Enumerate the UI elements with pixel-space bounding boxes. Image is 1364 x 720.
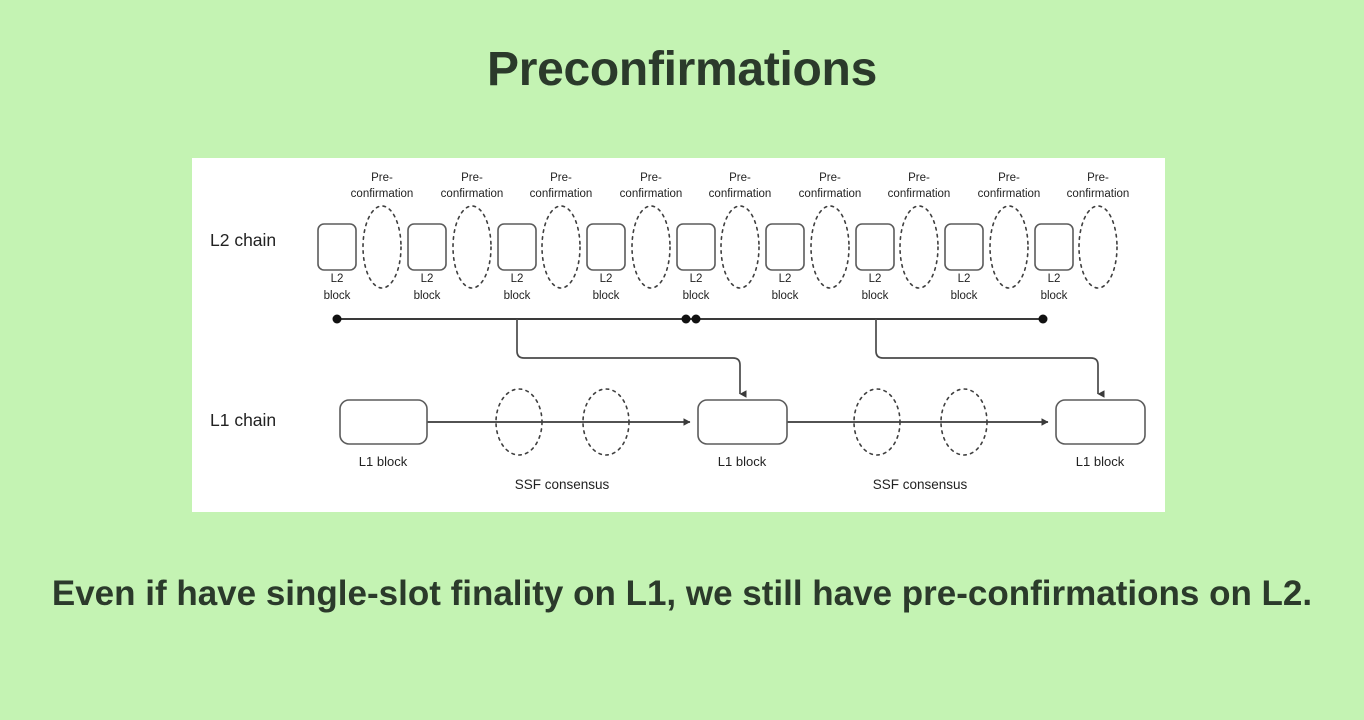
l2-block-label-line2: block [324, 290, 351, 302]
l2-timeline-dot [333, 315, 342, 324]
preconfirmation-item: Pre- confirmation [709, 172, 772, 288]
preconfirmation-item: Pre- confirmation [441, 172, 504, 288]
l2-timeline [333, 315, 1048, 324]
preconfirmation-label-line1: Pre- [461, 172, 483, 184]
l2-block-rect [945, 224, 983, 270]
page-title: Preconfirmations [0, 46, 1364, 94]
preconfirmation-label-line1: Pre- [908, 172, 930, 184]
preconfirmation-label-line2: confirmation [888, 188, 951, 200]
l2-block-label-line1: L2 [331, 273, 344, 285]
preconfirmation-item: Pre- confirmation [620, 172, 683, 288]
preconfirmation-label-line1: Pre- [729, 172, 751, 184]
preconfirmation-ellipse [453, 206, 491, 288]
preconfirmation-ellipse [542, 206, 580, 288]
l1-block-label: L1 block [359, 454, 408, 469]
l1-chain-label: L1 chain [210, 410, 276, 430]
l2-block-label-line1: L2 [421, 273, 434, 285]
preconfirmation-label-line2: confirmation [709, 188, 772, 200]
l2-block-item: L2 block [766, 224, 804, 302]
preconfirmation-label-line1: Pre- [371, 172, 393, 184]
preconfirmation-ellipse [990, 206, 1028, 288]
l2-to-l1-connector [876, 319, 1098, 394]
slide-caption: Even if have single-slot finality on L1,… [40, 572, 1324, 617]
preconfirmation-label-line2: confirmation [620, 188, 683, 200]
l2-block-rect [318, 224, 356, 270]
preconfirmation-item: Pre- confirmation [799, 172, 862, 288]
preconfirmation-label-line1: Pre- [550, 172, 572, 184]
l1-chain-group: L1 block L1 block L1 block SSF consensus… [340, 389, 1145, 492]
l2-timeline-dot [682, 315, 691, 324]
l2-block-label-line1: L2 [511, 273, 524, 285]
l2-block-label-line1: L2 [600, 273, 613, 285]
l2-block-rect [677, 224, 715, 270]
l1-block-rect [1056, 400, 1145, 444]
l2-block-label-line1: L2 [958, 273, 971, 285]
l2-block-label-line2: block [951, 290, 978, 302]
l1-block-rect [698, 400, 787, 444]
l1-block-item: L1 block [1056, 400, 1145, 469]
l2-block-item: L2 block [408, 224, 446, 302]
l2-block-label-line2: block [862, 290, 889, 302]
l2-block-item: L2 block [677, 224, 715, 302]
l2-to-l1-connector [517, 319, 740, 394]
ssf-consensus-label: SSF consensus [873, 477, 968, 492]
preconfirmation-label-line2: confirmation [799, 188, 862, 200]
preconfirmation-item: Pre- confirmation [888, 172, 951, 288]
l1-block-item: L1 block [340, 400, 427, 469]
preconfirmation-item: Pre- confirmation [978, 172, 1041, 288]
l2-chain-label: L2 chain [210, 230, 276, 250]
l2-block-item: L2 block [945, 224, 983, 302]
l2-block-label-line2: block [504, 290, 531, 302]
l2-block-rect [408, 224, 446, 270]
preconfirmation-ellipse [1079, 206, 1117, 288]
preconfirmation-label-line1: Pre- [819, 172, 841, 184]
l2-block-rect [587, 224, 625, 270]
preconfirmation-label-line2: confirmation [530, 188, 593, 200]
l2-block-label-line1: L2 [869, 273, 882, 285]
l2-block-label-line1: L2 [779, 273, 792, 285]
l2-block-rect [766, 224, 804, 270]
preconfirmation-label-line2: confirmation [441, 188, 504, 200]
l2-block-item: L2 block [1035, 224, 1073, 302]
l1-block-rect [340, 400, 427, 444]
preconfirmation-ellipse [363, 206, 401, 288]
preconfirmation-label-line1: Pre- [998, 172, 1020, 184]
l2-preconfirmation-group: Pre- confirmation Pre- confirmation Pre-… [351, 172, 1130, 288]
l2-to-l1-connector-group [517, 319, 1098, 394]
preconfirmation-label-line1: Pre- [1087, 172, 1109, 184]
preconfirmation-label-line2: confirmation [351, 188, 414, 200]
l2-block-group: L2 block L2 block L2 block L2 block L2 [318, 224, 1073, 302]
l2-timeline-dot [692, 315, 701, 324]
l2-block-label-line2: block [1041, 290, 1068, 302]
l2-block-label-line2: block [414, 290, 441, 302]
preconfirmation-label-line1: Pre- [640, 172, 662, 184]
diagram-panel: L2 chain L1 chain Pre- confirmation Pre-… [192, 158, 1165, 512]
l2-block-label-line2: block [772, 290, 799, 302]
l2-block-item: L2 block [318, 224, 356, 302]
l2-block-item: L2 block [498, 224, 536, 302]
l2-block-label-line2: block [593, 290, 620, 302]
l2-block-item: L2 block [587, 224, 625, 302]
l1-block-label: L1 block [718, 454, 767, 469]
l1-block-item: L1 block [698, 400, 787, 469]
preconfirmation-item: Pre- confirmation [351, 172, 414, 288]
l2-block-label-line1: L2 [1048, 273, 1061, 285]
l2-timeline-dot [1039, 315, 1048, 324]
preconfirmation-item: Pre- confirmation [530, 172, 593, 288]
preconfirmation-label-line2: confirmation [978, 188, 1041, 200]
preconfirmation-item: Pre- confirmation [1067, 172, 1130, 288]
l2-block-label-line2: block [683, 290, 710, 302]
l2-block-label-line1: L2 [690, 273, 703, 285]
l2-block-rect [1035, 224, 1073, 270]
l2-block-rect [856, 224, 894, 270]
l1-block-label: L1 block [1076, 454, 1125, 469]
preconfirmation-ellipse [721, 206, 759, 288]
preconfirmation-ellipse [632, 206, 670, 288]
preconfirmation-diagram: L2 chain L1 chain Pre- confirmation Pre-… [192, 158, 1165, 512]
preconfirmation-label-line2: confirmation [1067, 188, 1130, 200]
preconfirmation-ellipse [900, 206, 938, 288]
l2-block-rect [498, 224, 536, 270]
ssf-consensus-label: SSF consensus [515, 477, 610, 492]
preconfirmation-ellipse [811, 206, 849, 288]
l2-block-item: L2 block [856, 224, 894, 302]
